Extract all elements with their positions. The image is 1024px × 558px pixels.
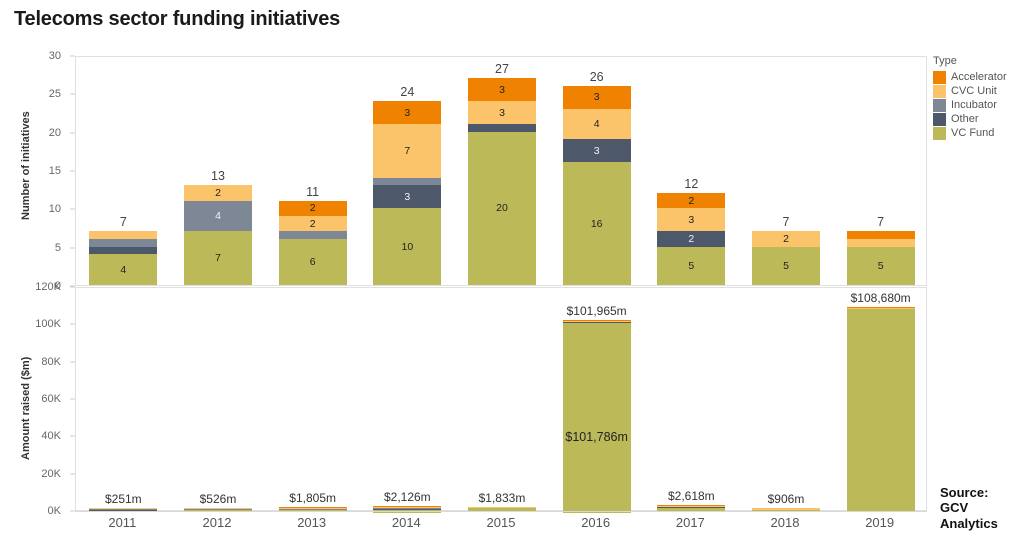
segment-value-label: 5 bbox=[783, 260, 789, 272]
bottom-bar-2018[interactable]: $906m bbox=[752, 508, 820, 511]
y-tick-mark bbox=[70, 171, 75, 172]
bottom-chart-bars: $251m$526m$1,805m$2,126m$1,833m$101,965m… bbox=[76, 288, 926, 510]
bottom-bar-total-label: $251m bbox=[89, 492, 157, 506]
top-bar-segment-cvc-unit[interactable]: 4 bbox=[563, 109, 631, 140]
segment-value-label: 3 bbox=[594, 145, 600, 157]
bottom-chart-plot-area: $251m$526m$1,805m$2,126m$1,833m$101,965m… bbox=[75, 287, 927, 511]
source-line-1: GCV bbox=[940, 500, 998, 515]
top-bar-total-label: 27 bbox=[468, 62, 536, 76]
legend-swatch-icon bbox=[933, 127, 946, 140]
segment-value-label: 10 bbox=[401, 241, 413, 253]
bottom-bar-total-label: $1,833m bbox=[468, 491, 536, 505]
segment-value-label: 2 bbox=[688, 195, 694, 207]
top-bar-segment-other[interactable] bbox=[89, 247, 157, 255]
top-bar-segment-incubator[interactable] bbox=[373, 178, 441, 186]
top-bar-2019[interactable]: 57 bbox=[847, 231, 915, 285]
bottom-bar-segment-vc-fund[interactable] bbox=[563, 323, 631, 513]
x-axis-label-2017: 2017 bbox=[643, 515, 738, 530]
bottom-bar-2017[interactable]: $2,618m bbox=[657, 505, 725, 510]
top-bar-segment-accelerator[interactable]: 2 bbox=[657, 193, 725, 208]
y-tick-label: 20K bbox=[0, 468, 66, 480]
segment-value-label: 2 bbox=[310, 202, 316, 214]
segment-value-label: 2 bbox=[310, 218, 316, 230]
segment-value-label: 2 bbox=[215, 187, 221, 199]
top-bar-total-label: 24 bbox=[373, 85, 441, 99]
top-bar-segment-cvc-unit[interactable]: 2 bbox=[184, 185, 252, 200]
segment-value-label: 4 bbox=[215, 210, 221, 222]
top-bar-total-label: 7 bbox=[752, 215, 820, 229]
top-bar-segment-vc-fund[interactable]: 7 bbox=[184, 231, 252, 285]
bottom-bar-total-label: $2,618m bbox=[657, 489, 725, 503]
bottom-chart-y-axis-title: Amount raised ($m) bbox=[20, 357, 32, 460]
bottom-bar-2015[interactable]: $1,833m bbox=[468, 507, 536, 510]
top-bar-segment-accelerator[interactable]: 2 bbox=[279, 201, 347, 216]
top-bar-total-label: 13 bbox=[184, 169, 252, 183]
top-bar-2015[interactable]: 332027 bbox=[468, 78, 536, 285]
top-bar-segment-vc-fund[interactable]: 5 bbox=[657, 247, 725, 285]
top-bar-segment-cvc-unit[interactable] bbox=[89, 231, 157, 239]
segment-value-label: 20 bbox=[496, 202, 508, 214]
top-bar-segment-vc-fund[interactable]: 5 bbox=[847, 247, 915, 285]
y-tick-mark bbox=[70, 361, 75, 362]
top-bar-segment-vc-fund[interactable]: 10 bbox=[373, 208, 441, 285]
y-tick-label: 60K bbox=[0, 393, 66, 405]
top-chart-bars: 4724713226113731024332027343162623251225… bbox=[76, 57, 926, 285]
top-bar-total-label: 7 bbox=[89, 215, 157, 229]
segment-value-label: 16 bbox=[591, 218, 603, 230]
top-bar-segment-accelerator[interactable]: 3 bbox=[563, 86, 631, 109]
top-chart-plot-area: 4724713226113731024332027343162623251225… bbox=[75, 56, 927, 286]
bottom-bar-total-label: $2,126m bbox=[373, 490, 441, 504]
segment-value-label: 7 bbox=[404, 145, 410, 157]
y-tick-label: 120K bbox=[0, 281, 66, 293]
legend-items: AcceleratorCVC UnitIncubatorOtherVC Fund bbox=[933, 70, 1023, 140]
legend-item-other[interactable]: Other bbox=[933, 112, 1023, 126]
legend-item-label: Incubator bbox=[951, 99, 997, 111]
segment-value-label: 3 bbox=[404, 107, 410, 119]
segment-value-label: 3 bbox=[688, 214, 694, 226]
bottom-bar-segment-vc-fund[interactable] bbox=[847, 309, 915, 512]
page-title: Telecoms sector funding initiatives bbox=[14, 8, 340, 31]
top-bar-segment-vc-fund[interactable]: 16 bbox=[563, 162, 631, 285]
y-tick-mark bbox=[70, 324, 75, 325]
y-tick-label: 100K bbox=[0, 318, 66, 330]
top-bar-segment-cvc-unit[interactable]: 7 bbox=[373, 124, 441, 178]
top-bar-2013[interactable]: 22611 bbox=[279, 201, 347, 285]
bottom-bar-total-label: $1,805m bbox=[279, 491, 347, 505]
y-tick-mark bbox=[70, 209, 75, 210]
segment-value-label: 7 bbox=[215, 252, 221, 264]
bottom-bar-total-label: $906m bbox=[752, 492, 820, 506]
bottom-bar-2012[interactable]: $526m bbox=[184, 508, 252, 511]
segment-value-label: 2 bbox=[783, 233, 789, 245]
legend: Type AcceleratorCVC UnitIncubatorOtherVC… bbox=[933, 55, 1023, 140]
y-tick-label: 20 bbox=[0, 127, 66, 139]
bottom-bar-total-label: $101,965m bbox=[563, 304, 631, 318]
segment-value-label: 3 bbox=[499, 107, 505, 119]
y-tick-label: 15 bbox=[0, 165, 66, 177]
legend-item-label: Accelerator bbox=[951, 71, 1007, 83]
legend-swatch-icon bbox=[933, 71, 946, 84]
y-tick-label: 25 bbox=[0, 88, 66, 100]
segment-value-label: 3 bbox=[594, 91, 600, 103]
y-tick-mark bbox=[70, 287, 75, 288]
bottom-bar-total-label: $108,680m bbox=[847, 291, 915, 305]
segment-value-label: 5 bbox=[688, 260, 694, 272]
bottom-bar-total-label: $526m bbox=[184, 492, 252, 506]
top-bar-segment-other[interactable]: 2 bbox=[657, 231, 725, 246]
top-bar-segment-accelerator[interactable]: 3 bbox=[373, 101, 441, 124]
top-bar-segment-incubator[interactable] bbox=[89, 239, 157, 247]
y-tick-mark bbox=[70, 473, 75, 474]
top-bar-segment-cvc-unit[interactable]: 3 bbox=[657, 208, 725, 231]
y-tick-label: 80K bbox=[0, 356, 66, 368]
legend-swatch-icon bbox=[933, 85, 946, 98]
legend-item-incubator[interactable]: Incubator bbox=[933, 98, 1023, 112]
top-bar-total-label: 11 bbox=[279, 185, 347, 199]
y-tick-label: 30 bbox=[0, 50, 66, 62]
top-bar-segment-vc-fund[interactable]: 6 bbox=[279, 239, 347, 285]
top-bar-segment-cvc-unit[interactable]: 3 bbox=[468, 101, 536, 124]
segment-value-label: 5 bbox=[878, 260, 884, 272]
top-bar-segment-accelerator[interactable]: 3 bbox=[468, 78, 536, 101]
legend-swatch-icon bbox=[933, 99, 946, 112]
y-tick-label: 0K bbox=[0, 505, 66, 517]
segment-value-label: 3 bbox=[404, 191, 410, 203]
top-bar-2012[interactable]: 24713 bbox=[184, 185, 252, 285]
x-axis-label-2019: 2019 bbox=[832, 515, 927, 530]
top-bar-total-label: 7 bbox=[847, 215, 915, 229]
bottom-bar-2013[interactable]: $1,805m bbox=[279, 507, 347, 510]
top-bar-segment-other[interactable]: 3 bbox=[563, 139, 631, 162]
top-bar-segment-vc-fund[interactable]: 5 bbox=[752, 247, 820, 285]
y-tick-mark bbox=[70, 94, 75, 95]
legend-item-cvc-unit[interactable]: CVC Unit bbox=[933, 84, 1023, 98]
legend-item-vc-fund[interactable]: VC Fund bbox=[933, 126, 1023, 140]
bottom-bar-2011[interactable]: $251m bbox=[89, 508, 157, 511]
top-bar-segment-cvc-unit[interactable]: 2 bbox=[752, 231, 820, 246]
source-line-2: Analytics bbox=[940, 516, 998, 531]
top-bar-segment-vc-fund[interactable]: 20 bbox=[468, 132, 536, 285]
legend-item-label: CVC Unit bbox=[951, 85, 997, 97]
y-tick-label: 5 bbox=[0, 242, 66, 254]
top-bar-segment-vc-fund[interactable]: 4 bbox=[89, 254, 157, 285]
top-bar-segment-incubator[interactable] bbox=[279, 231, 347, 239]
bottom-bar-2019[interactable]: $108,680m bbox=[847, 307, 915, 510]
x-axis-label-2012: 2012 bbox=[170, 515, 265, 530]
chart-page: Telecoms sector funding initiatives Type… bbox=[0, 0, 1024, 558]
top-bar-total-label: 26 bbox=[563, 70, 631, 84]
y-tick-mark bbox=[70, 436, 75, 437]
y-tick-mark bbox=[70, 132, 75, 133]
legend-item-accelerator[interactable]: Accelerator bbox=[933, 70, 1023, 84]
legend-item-label: VC Fund bbox=[951, 127, 994, 139]
x-axis-label-2015: 2015 bbox=[454, 515, 549, 530]
bottom-bar-2016[interactable]: $101,965m bbox=[563, 320, 631, 510]
segment-value-label: 6 bbox=[310, 256, 316, 268]
bottom-bar-2014[interactable]: $2,126m bbox=[373, 506, 441, 510]
y-tick-label: 10 bbox=[0, 203, 66, 215]
y-tick-label: 40K bbox=[0, 430, 66, 442]
source-note: Source:GCVAnalytics bbox=[940, 485, 998, 531]
x-axis-label-2011: 2011 bbox=[75, 515, 170, 530]
top-bar-segment-accelerator[interactable] bbox=[847, 231, 915, 239]
top-bar-total-label: 12 bbox=[657, 177, 725, 191]
top-bar-2018[interactable]: 257 bbox=[752, 231, 820, 285]
top-bar-segment-cvc-unit[interactable]: 2 bbox=[279, 216, 347, 231]
segment-value-label: 3 bbox=[499, 84, 505, 96]
legend-title: Type bbox=[933, 55, 1023, 67]
x-axis-line bbox=[75, 511, 927, 512]
x-axis-label-2013: 2013 bbox=[264, 515, 359, 530]
bottom-bar-inner-label: $101,786m bbox=[563, 430, 631, 444]
top-bar-2016[interactable]: 3431626 bbox=[563, 86, 631, 285]
top-bar-segment-other[interactable]: 3 bbox=[373, 185, 441, 208]
top-bar-segment-incubator[interactable]: 4 bbox=[184, 201, 252, 232]
segment-value-label: 4 bbox=[594, 118, 600, 130]
x-axis-label-2016: 2016 bbox=[548, 515, 643, 530]
y-tick-mark bbox=[70, 56, 75, 57]
x-axis-labels: 201120122013201420152016201720182019 bbox=[75, 513, 927, 537]
x-axis-label-2014: 2014 bbox=[359, 515, 454, 530]
segment-value-label: 2 bbox=[688, 233, 694, 245]
y-tick-mark bbox=[70, 247, 75, 248]
legend-swatch-icon bbox=[933, 113, 946, 126]
top-bar-2014[interactable]: 3731024 bbox=[373, 101, 441, 285]
top-bar-segment-cvc-unit[interactable] bbox=[847, 239, 915, 247]
legend-item-label: Other bbox=[951, 113, 979, 125]
y-tick-mark bbox=[70, 399, 75, 400]
segment-value-label: 4 bbox=[120, 264, 126, 276]
top-bar-segment-other[interactable] bbox=[468, 124, 536, 132]
top-bar-2011[interactable]: 47 bbox=[89, 231, 157, 285]
x-axis-label-2018: 2018 bbox=[738, 515, 833, 530]
top-bar-2017[interactable]: 232512 bbox=[657, 193, 725, 285]
source-line-0: Source: bbox=[940, 485, 998, 500]
